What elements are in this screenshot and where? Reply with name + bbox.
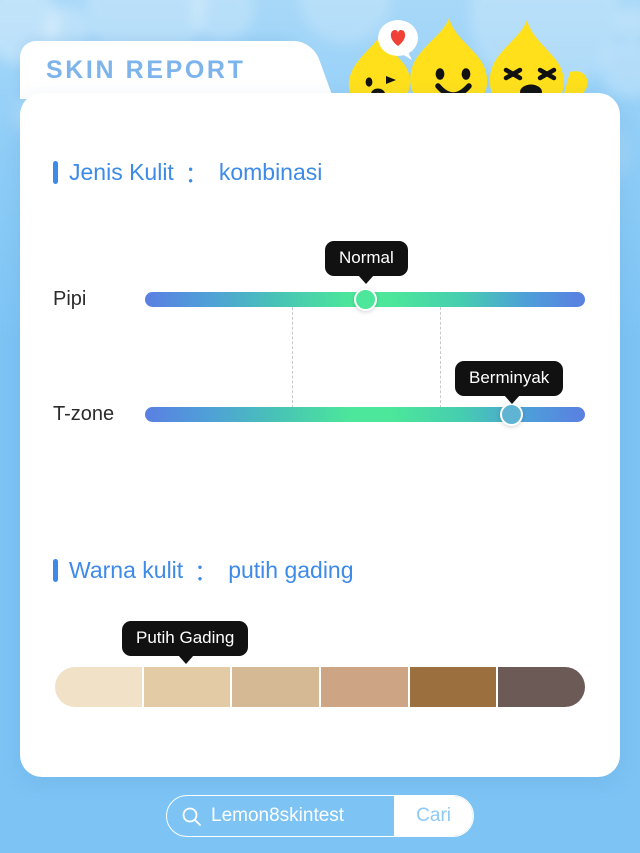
tooltip-skin-tone: Putih Gading: [122, 621, 248, 656]
slider-label-tzone: T-zone: [53, 403, 114, 426]
search-input[interactable]: Lemon8skintest: [167, 796, 394, 836]
search-bar[interactable]: Lemon8skintest Cari: [166, 795, 474, 837]
slider-divider-line: [440, 307, 441, 408]
skin-tone-heading: Warna kulit ： putih gading: [53, 553, 354, 587]
skin-type-heading-value: kombinasi: [219, 159, 323, 186]
slider-divider-line: [292, 307, 293, 408]
skin-type-heading-label: Jenis Kulit: [69, 159, 174, 186]
slider-label-pipi: Pipi: [53, 288, 86, 311]
bokeh-circle: [616, 6, 640, 40]
skin-report-tab: SKIN REPORT: [20, 41, 307, 99]
skin-tone-heading-value: putih gading: [228, 557, 353, 584]
skin-tone-swatch-6[interactable]: [498, 667, 585, 707]
heading-accent-bar: [53, 161, 58, 184]
search-submit-button[interactable]: Cari: [394, 796, 473, 836]
tooltip-tzone: Berminyak: [455, 361, 563, 396]
slider-thumb-pipi[interactable]: [354, 288, 377, 311]
skin-tone-swatch-4[interactable]: [321, 667, 410, 707]
search-icon: [181, 806, 202, 827]
heading-accent-bar: [53, 559, 58, 582]
skin-tone-heading-separator: ：: [194, 553, 217, 587]
skin-type-heading-separator: ：: [185, 155, 208, 189]
skin-tone-swatch-3[interactable]: [232, 667, 321, 707]
skin-tone-heading-label: Warna kulit: [69, 557, 183, 584]
skin-tone-swatch-2[interactable]: [144, 667, 233, 707]
skin-tone-swatch-strip[interactable]: [55, 667, 585, 707]
skin-type-heading: Jenis Kulit ： kombinasi: [53, 155, 322, 189]
skin-tone-swatch-1[interactable]: [55, 667, 144, 707]
skin-tone-swatch-5[interactable]: [410, 667, 499, 707]
slider-thumb-tzone[interactable]: [500, 403, 523, 426]
bokeh-circle: [190, 0, 254, 42]
page-title: SKIN REPORT: [46, 56, 245, 85]
tooltip-pipi: Normal: [325, 241, 408, 276]
search-input-value: Lemon8skintest: [211, 805, 344, 827]
